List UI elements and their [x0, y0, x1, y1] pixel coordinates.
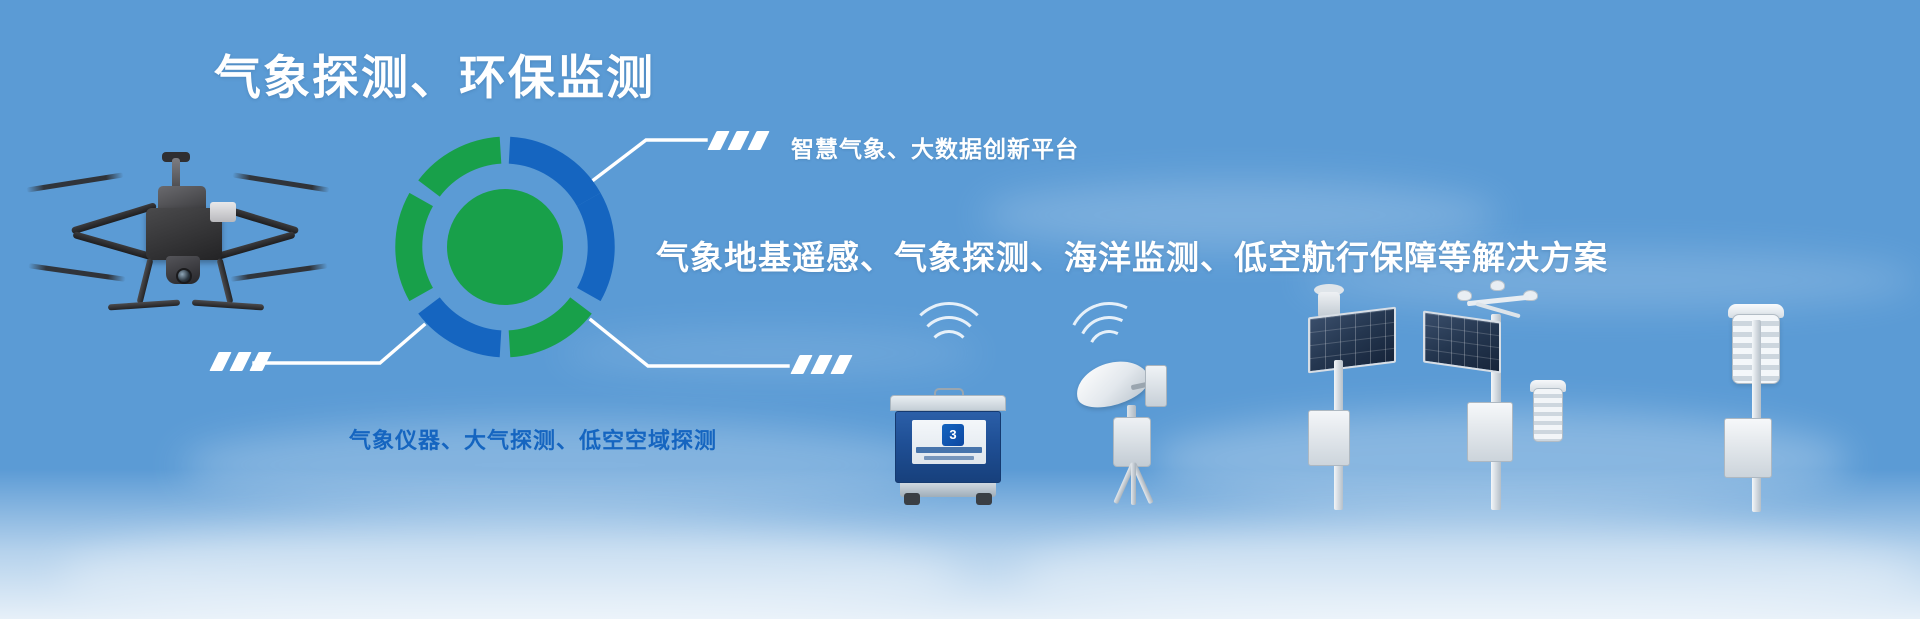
- radiation-shield: [1533, 388, 1563, 442]
- cabinet-top: [890, 395, 1006, 411]
- drone-propeller: [26, 172, 124, 192]
- anemometer-weather-station-icon: [1415, 280, 1580, 515]
- cabinet-label-panel: 3: [912, 420, 986, 464]
- ring-arc-green-left: [409, 200, 421, 295]
- tripod-leg: [1131, 463, 1136, 505]
- slash-accent-left: [214, 352, 267, 371]
- solar-panel: [1308, 307, 1396, 374]
- cloud-wisp: [60, 520, 960, 619]
- drone-skid: [192, 299, 264, 310]
- drone-arm: [213, 231, 296, 261]
- signal-wave-arc: [907, 302, 991, 386]
- drone-leg: [137, 258, 154, 304]
- hero-banner: 3: [0, 0, 1920, 619]
- ring-arc-green-topleft: [429, 150, 501, 188]
- cabinet-wheel: [976, 493, 992, 505]
- drone-camera-lens-icon: [176, 268, 192, 284]
- drone-propeller: [28, 263, 126, 282]
- drone-skid: [108, 299, 180, 310]
- anemometer-cup: [1490, 280, 1505, 291]
- radiation-shield-post-icon: [1700, 300, 1810, 515]
- drone-side-module: [210, 202, 236, 222]
- solar-weather-station-icon: [1280, 300, 1405, 515]
- drone-icon: [42, 150, 312, 350]
- station-mast: [1752, 320, 1761, 512]
- drone-arm: [72, 231, 155, 261]
- slash-accent-top: [712, 131, 765, 150]
- anemometer-cup: [1457, 290, 1472, 301]
- slash-accent-right: [795, 355, 848, 374]
- drone-propeller: [232, 172, 330, 192]
- solar-cell-grid: [1310, 309, 1394, 371]
- cloud-wisp: [1020, 520, 1920, 619]
- cabinet-label-line: [924, 456, 974, 460]
- dish-control-unit: [1113, 417, 1151, 467]
- ring-arc-green-bottomright: [510, 306, 582, 344]
- ring-arc-blue-right: [589, 200, 601, 295]
- drone-arm: [71, 202, 157, 234]
- logo-ring: [388, 130, 622, 364]
- station-enclosure-box: [1308, 410, 1350, 466]
- callout-solutions: 气象地基遥感、气象探测、海洋监测、低空航行保障等解决方案: [656, 231, 1608, 279]
- solar-panel: [1423, 311, 1501, 374]
- cabinet-label-line: [916, 447, 982, 453]
- instrument-cabinet-icon: 3: [890, 395, 1006, 505]
- station-enclosure-box: [1724, 418, 1772, 478]
- solar-cell-grid: [1425, 313, 1499, 371]
- drone-propeller: [230, 263, 328, 282]
- cabinet-body: 3: [895, 411, 1001, 483]
- station-enclosure-box: [1467, 402, 1513, 462]
- cabinet-wheel: [904, 493, 920, 505]
- page-title: 气象探测、环保监测: [214, 50, 655, 106]
- callout-instruments: 气象仪器、大气探测、低空空域探测: [349, 423, 717, 455]
- ring-arc-blue-bottomleft: [429, 306, 501, 344]
- callout-platform: 智慧气象、大数据创新平台: [791, 130, 1079, 164]
- satellite-dish-icon: [1075, 355, 1195, 505]
- dish-receiver-box: [1145, 365, 1167, 407]
- cabinet-logo: 3: [942, 424, 964, 446]
- ring-center-disc: [447, 189, 563, 305]
